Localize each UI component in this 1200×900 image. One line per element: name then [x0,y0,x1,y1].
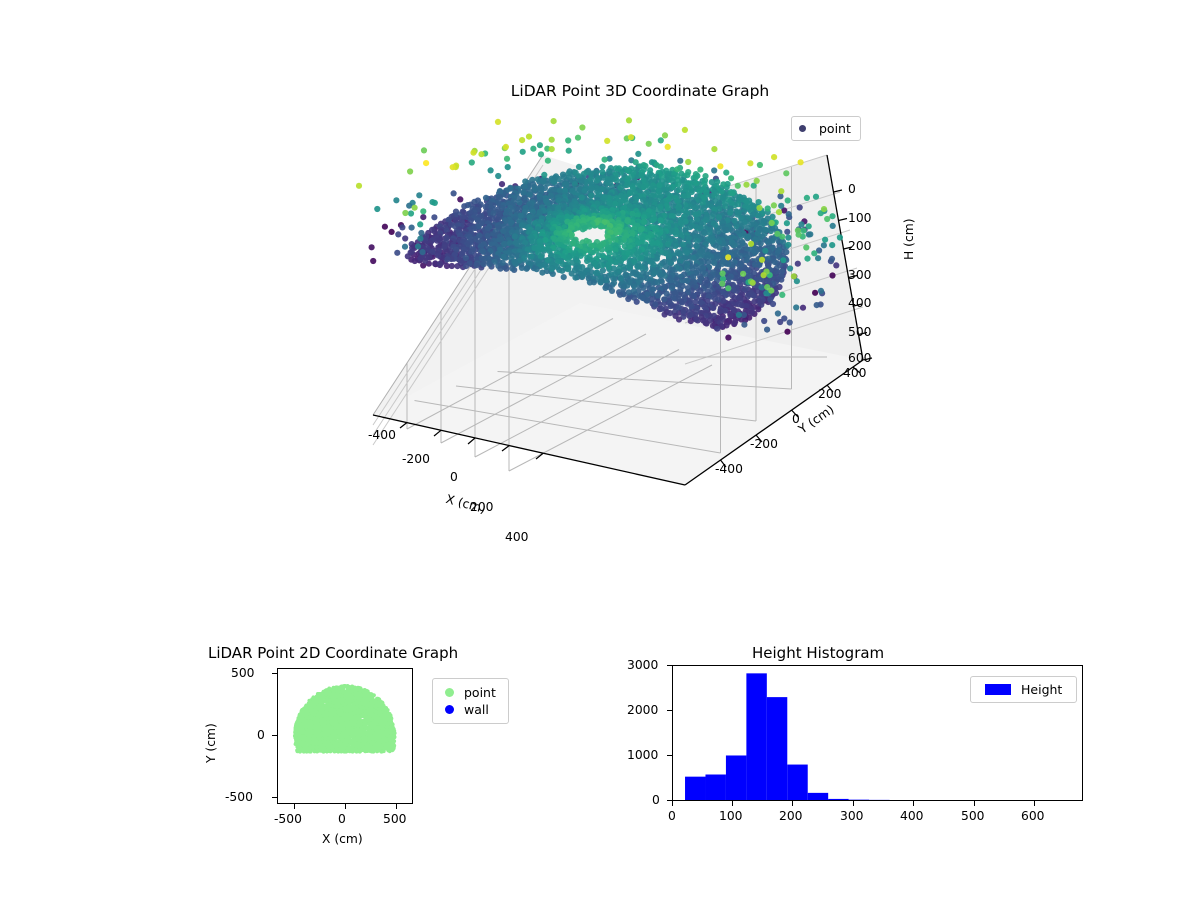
tick-hist-x-5: 500 [961,809,984,823]
legend-height-patch-icon [985,684,1011,695]
plot-2d-legend[interactable]: point wall [432,678,509,724]
tick-y-0: -400 [715,462,743,476]
plot-2d-lidar: LiDAR Point 2D Coordinate Graph 500 0 -5… [200,640,540,860]
plot-2d-frame [277,668,413,804]
plot-3d-lidar: LiDAR Point 3D Coordinate Graph point [330,70,950,630]
tick-hist-x-2: 200 [779,809,802,823]
legend-point-label: point [464,685,496,700]
plot-2d-title: LiDAR Point 2D Coordinate Graph [208,644,458,662]
tick-z-5: 500 [848,325,871,339]
tick-z-2: 200 [848,239,871,253]
tick-y-3: 200 [818,387,841,401]
legend-height-label: Height [1021,682,1062,697]
tickmark-y-neg500 [272,797,277,798]
tick-z-3: 300 [848,268,871,282]
tickmark-y-0 [272,735,277,736]
tickmark-hx-400 [913,801,914,806]
legend-wall-marker-icon [445,705,454,714]
tick-hist-y-2: 2000 [627,703,658,717]
tick-z-0: 0 [848,182,856,196]
tick-hist-x-4: 400 [900,809,923,823]
tick-z-6: 600 [848,351,871,365]
tickmark-x-0 [345,804,346,809]
tickmark-hx-300 [853,801,854,806]
tick-hist-y-3: 3000 [627,658,658,672]
tick-hist-x-0: 0 [668,809,676,823]
plot-3d-axes-box [330,70,950,630]
tick-2d-y-2: -500 [225,790,253,804]
tick-2d-x-2: 500 [383,812,406,826]
tick-hist-y-1: 1000 [627,748,658,762]
tickmark-hx-200 [792,801,793,806]
legend-item-point[interactable]: point [437,684,504,701]
histogram-title: Height Histogram [752,644,884,662]
tick-hist-x-3: 300 [840,809,863,823]
tick-2d-x-1: 0 [338,812,346,826]
tickmark-hx-600 [1034,801,1035,806]
tick-z-1: 100 [848,211,871,225]
tick-hist-y-0: 0 [652,793,660,807]
point-cloud-2d [278,669,412,803]
legend-item-wall[interactable]: wall [437,701,504,718]
tick-2d-x-0: -500 [274,812,302,826]
figure-canvas: LiDAR Point 3D Coordinate Graph point [0,0,1200,900]
tickmark-hy-1000 [667,755,672,756]
tickmark-hy-2000 [667,710,672,711]
legend-item-height[interactable]: Height [977,681,1070,698]
tick-z-4: 400 [848,296,871,310]
axis-label-z: H (cm) [902,219,916,261]
tickmark-y-500 [272,673,277,674]
tickmark-x-neg500 [294,804,295,809]
tickmark-hx-500 [974,801,975,806]
histogram-legend[interactable]: Height [970,676,1077,703]
tick-y-1: -200 [750,437,778,451]
tickmark-hx-100 [732,801,733,806]
tickmark-hx-0 [672,801,673,806]
tick-x-1: -200 [402,452,430,466]
tick-x-4: 400 [505,530,528,544]
tickmark-x-500 [396,804,397,809]
axis-label-2d-y: Y (cm) [204,723,218,763]
tick-x-0: -400 [368,428,396,442]
axis-label-2d-x: X (cm) [322,832,363,846]
tick-2d-y-1: 0 [257,728,265,742]
legend-point-marker-icon [445,688,454,697]
tickmark-hy-3000 [667,665,672,666]
tick-y-4: 400 [843,366,866,380]
tick-hist-x-6: 600 [1021,809,1044,823]
tick-x-2: 0 [450,470,458,484]
tick-hist-x-1: 100 [719,809,742,823]
legend-wall-label: wall [464,702,489,717]
plot-histogram: Height Histogram 0 1000 2000 3000 0 100 … [620,640,1100,860]
tick-2d-y-0: 500 [231,666,254,680]
